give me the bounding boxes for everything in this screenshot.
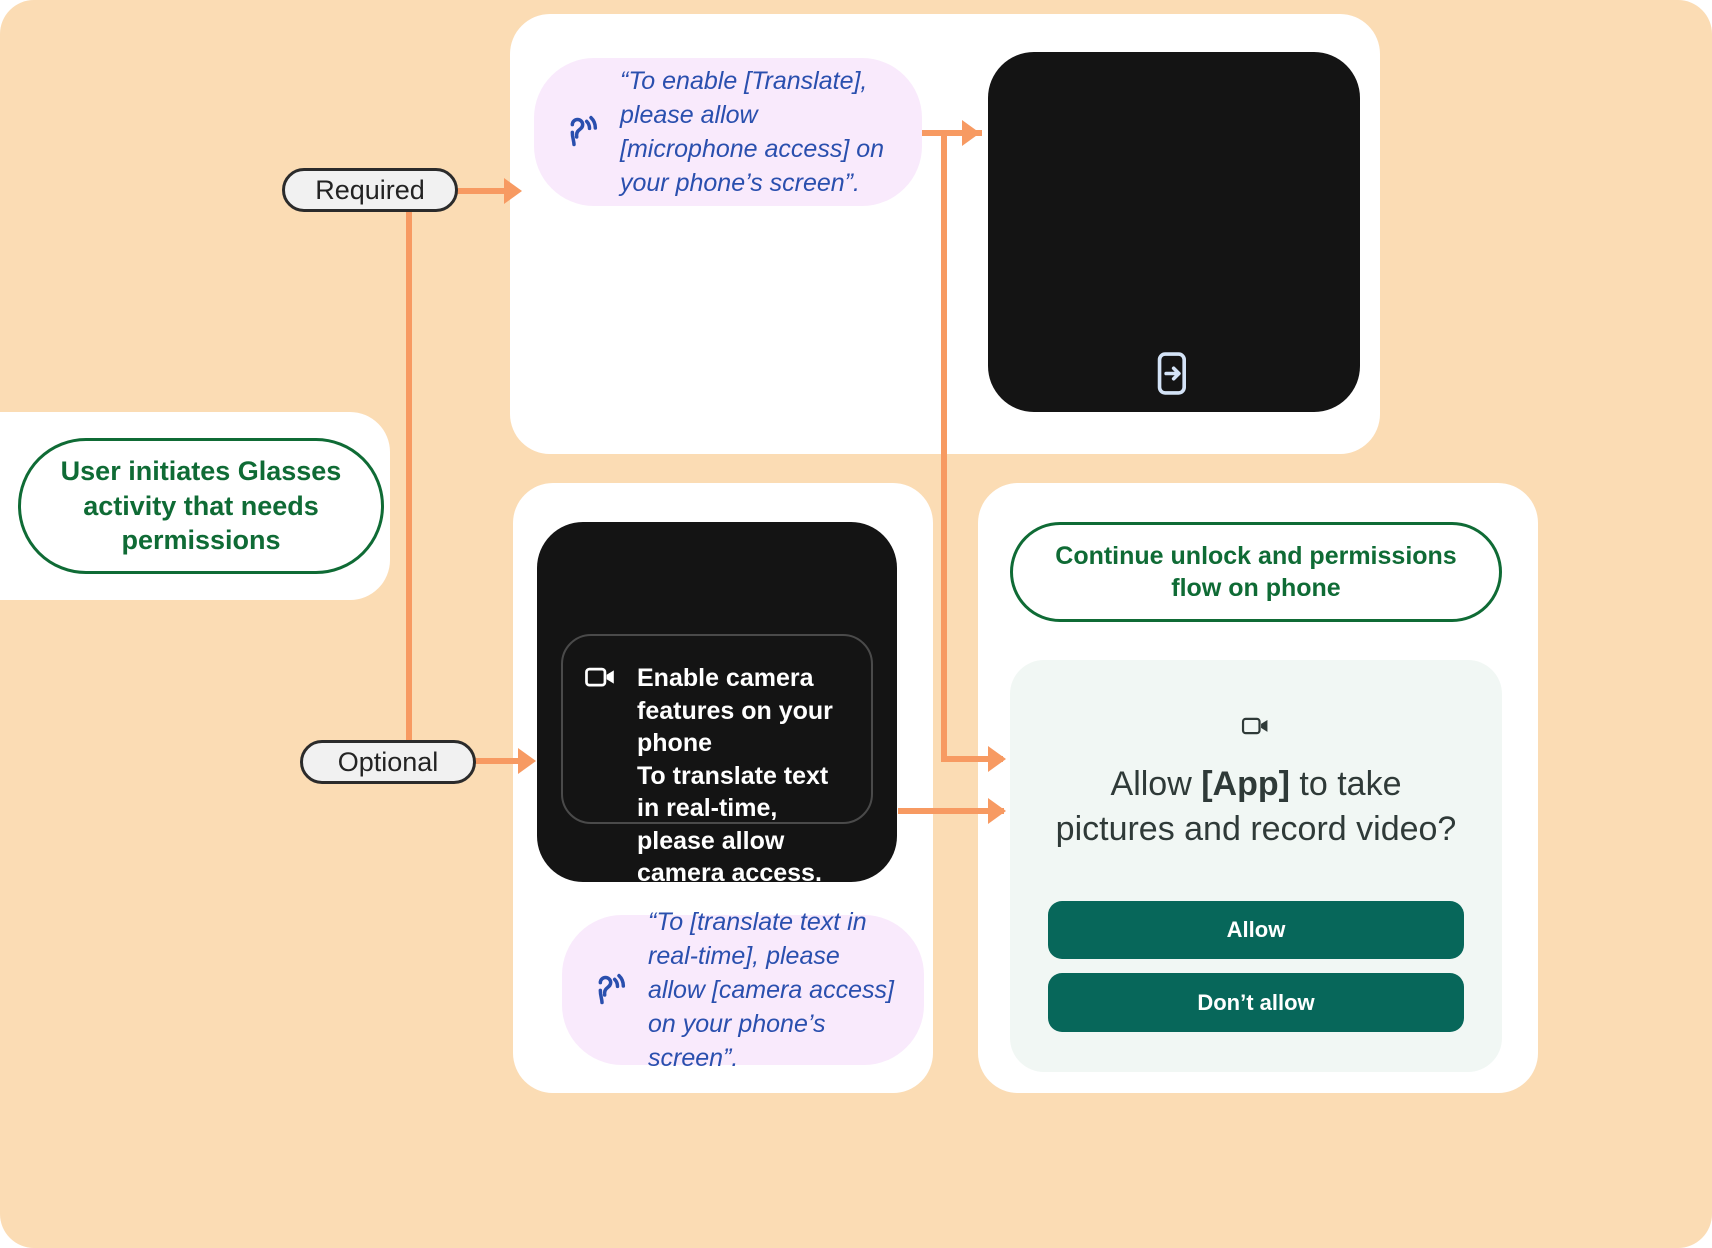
branch-pill-optional-label: Optional <box>338 747 439 778</box>
phone-flow-header[interactable]: Continue unlock and permissions flow on … <box>1010 522 1502 622</box>
video-camera-icon <box>1239 716 1273 736</box>
arrow-required-to-bubble <box>504 178 522 204</box>
permission-question-app: [App] <box>1201 765 1290 803</box>
glasses-screen-required <box>988 52 1360 412</box>
start-node[interactable]: User initiates Glasses activity that nee… <box>18 438 384 574</box>
deny-button-label: Don’t allow <box>1197 990 1314 1016</box>
glasses-permission-card-body: To translate text in real-time, please a… <box>637 760 849 890</box>
phone-flow-header-label: Continue unlock and permissions flow on … <box>1043 540 1469 604</box>
arrow-trunk-to-phone-dialog <box>988 746 1006 772</box>
phone-with-arrow-icon <box>1154 351 1194 402</box>
glasses-permission-card: Enable camera features on your phone To … <box>561 634 873 824</box>
permission-question: Allow [App] to take pictures and record … <box>1048 762 1464 853</box>
optional-voice-bubble-text: “To [translate text in real-time], pleas… <box>648 905 894 1075</box>
deny-button[interactable]: Don’t allow <box>1048 973 1464 1032</box>
allow-button-label: Allow <box>1227 917 1286 943</box>
branch-pill-optional[interactable]: Optional <box>300 740 476 784</box>
connector-down-trunk-to-phone <box>941 130 947 762</box>
allow-button[interactable]: Allow <box>1048 901 1464 960</box>
flow-diagram-canvas: User initiates Glasses activity that nee… <box>0 0 1712 1248</box>
branch-pill-required-label: Required <box>315 175 425 206</box>
glasses-screen-optional: Enable camera features on your phone To … <box>537 522 897 882</box>
video-camera-icon <box>585 665 617 689</box>
ear-hearing-icon <box>558 111 598 153</box>
permission-question-prefix: Allow <box>1111 765 1202 803</box>
glasses-permission-card-title: Enable camera features on your phone <box>637 662 849 760</box>
arrow-optional-to-glasses <box>518 748 536 774</box>
arrow-optional-card-to-phone <box>988 798 1006 824</box>
connector-start-to-branches <box>406 190 412 764</box>
optional-voice-bubble: “To [translate text in real-time], pleas… <box>562 915 924 1065</box>
arrow-required-bubble-to-glasses <box>962 120 980 146</box>
start-node-label: User initiates Glasses activity that nee… <box>55 454 347 558</box>
android-permission-dialog: Allow [App] to take pictures and record … <box>1010 660 1502 1072</box>
branch-pill-required[interactable]: Required <box>282 168 458 212</box>
ear-hearing-icon <box>586 969 626 1011</box>
required-voice-bubble-text: “To enable [Translate], please allow [mi… <box>620 64 892 200</box>
required-voice-bubble: “To enable [Translate], please allow [mi… <box>534 58 922 206</box>
